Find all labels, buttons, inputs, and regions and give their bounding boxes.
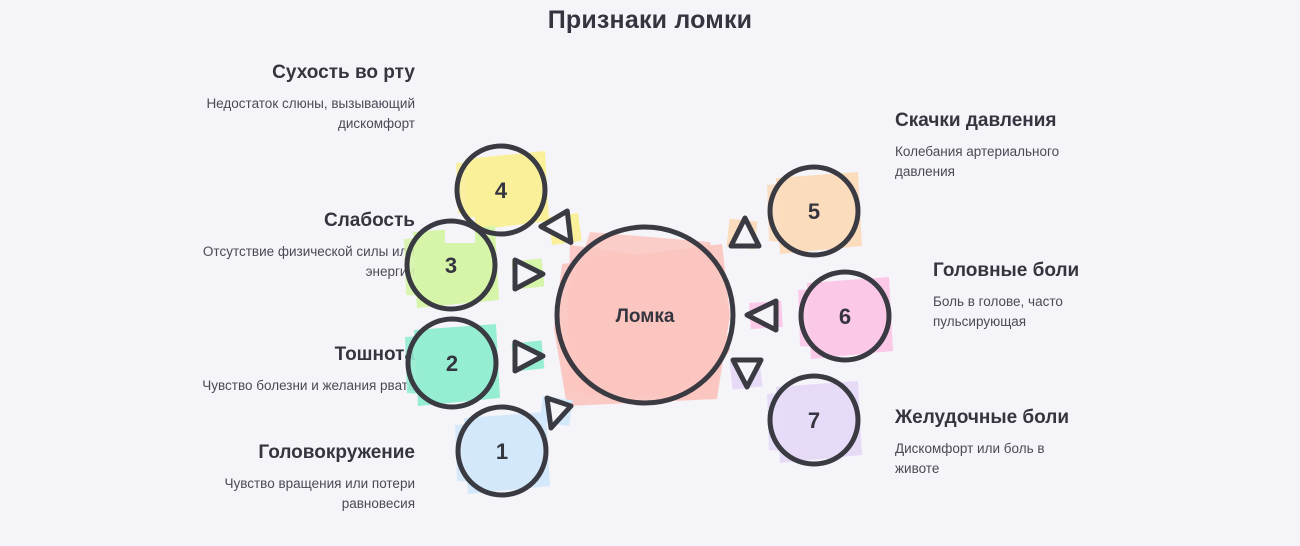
label-title: Тошнота (190, 342, 415, 367)
label-title: Головные боли (933, 258, 1108, 283)
node-number: 5 (808, 199, 820, 224)
label-desc: Чувство вращения или потери равновесия (175, 474, 415, 514)
label-desc: Дискомфорт или боль в животе (895, 439, 1090, 479)
label-block-dizziness: Головокружение Чувство вращения или поте… (175, 440, 415, 514)
label-title: Желудочные боли (895, 405, 1090, 430)
page-title: Признаки ломки (0, 6, 1300, 35)
node-number: 3 (445, 253, 457, 278)
node-number: 1 (496, 439, 508, 464)
label-desc-text: Дискомфорт или боль в животе (895, 441, 1045, 476)
diagram-canvas: 4 3 2 1 5 6 7 Ломка (395, 110, 905, 510)
node-number: 4 (495, 178, 508, 203)
node-number: 6 (839, 304, 851, 329)
label-block-headache: Головные боли Боль в голове, часто пульс… (933, 258, 1108, 332)
label-title: Головокружение (175, 440, 415, 465)
label-desc: Чувство болезни и желания рвать (190, 376, 415, 396)
label-block-nausea: Тошнота Чувство болезни и желания рвать (190, 342, 415, 396)
label-desc-text: Чувство болезни и желания рвать (202, 378, 415, 393)
label-block-blood-pressure: Скачки давления Колебания артериального … (895, 108, 1080, 182)
node-number: 2 (446, 351, 458, 376)
label-desc-text: Боль в голове, часто пульсирующая (933, 294, 1063, 329)
label-title: Скачки давления (895, 108, 1080, 133)
label-desc-text: Отсутствие физической силы или энергии (203, 244, 415, 279)
label-block-stomach-pain: Желудочные боли Дискомфорт или боль в жи… (895, 405, 1090, 479)
label-block-dry-mouth: Сухость во рту Недостаток слюны, вызываю… (190, 60, 415, 134)
label-desc: Недостаток слюны, вызывающий дискомфорт (190, 94, 415, 134)
label-desc: Колебания артериального давления (895, 142, 1080, 182)
label-title: Сухость во рту (190, 60, 415, 85)
label-desc: Боль в голове, часто пульсирующая (933, 292, 1108, 332)
center-label: Ломка (616, 306, 675, 327)
label-block-weakness: Слабость Отсутствие физической силы или … (190, 208, 415, 282)
label-desc-text: Чувство вращения или потери равновесия (224, 476, 415, 511)
label-title: Слабость (190, 208, 415, 233)
node-number: 7 (808, 408, 820, 433)
label-desc-text: Колебания артериального давления (895, 144, 1059, 179)
label-desc: Отсутствие физической силы или энергии (190, 242, 415, 282)
